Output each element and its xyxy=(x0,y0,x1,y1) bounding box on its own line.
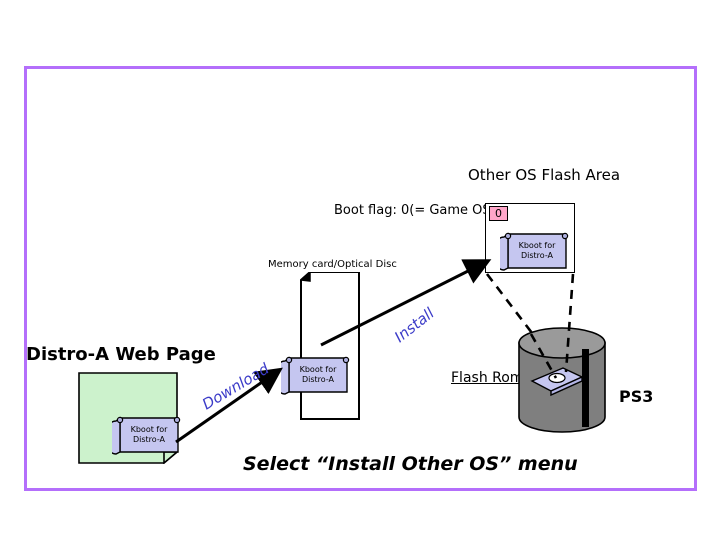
ps3-label: PS3 xyxy=(619,387,653,406)
diagram-canvas: Other OS Flash Area Boot flag: 0(= Game … xyxy=(0,0,720,540)
boot-flag-cell: 0 xyxy=(489,206,508,221)
flash-rom-label: Flash Rom xyxy=(451,370,523,386)
web-page-title: Distro-A Web Page xyxy=(26,344,216,365)
memory-card-label: Memory card/Optical Disc xyxy=(268,259,397,270)
flash-area-label: Other OS Flash Area xyxy=(468,166,620,184)
instruction-caption: Select “Install Other OS” menu xyxy=(243,453,578,475)
boot-flag-label: Boot flag: 0(= Game OS) xyxy=(334,203,496,218)
kboot-package-flash-area: Kboot for Distro-A xyxy=(500,228,574,274)
ps3-console-cylinder xyxy=(516,325,608,435)
kboot-package-web-page: Kboot for Distro-A xyxy=(112,412,186,458)
kboot-package-memory-card: Kboot for Distro-A xyxy=(281,352,355,398)
